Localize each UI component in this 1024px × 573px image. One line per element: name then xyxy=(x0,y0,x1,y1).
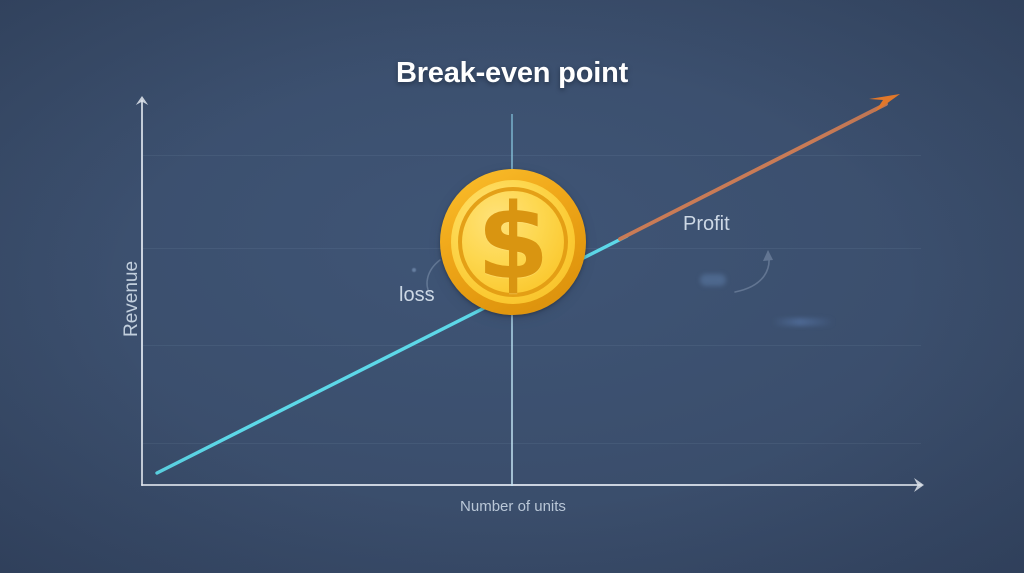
background-smudge xyxy=(772,318,834,326)
page-title: Break-even point xyxy=(0,57,1024,90)
y-axis-label: Revenue xyxy=(121,249,143,349)
coin-dollar-symbol: $ xyxy=(440,169,586,315)
profit-line-segment xyxy=(620,104,886,239)
background-smudge xyxy=(700,274,726,286)
dollar-coin-icon: $ xyxy=(440,169,586,315)
profit-label: Profit xyxy=(683,213,730,236)
background-dot xyxy=(412,268,416,272)
loss-label: loss xyxy=(399,284,435,307)
break-even-chart-infographic: $ Break-even point Revenue Number of uni… xyxy=(0,0,1024,573)
x-axis-label: Number of units xyxy=(413,498,613,515)
curved-arrow-up-icon xyxy=(735,250,773,292)
